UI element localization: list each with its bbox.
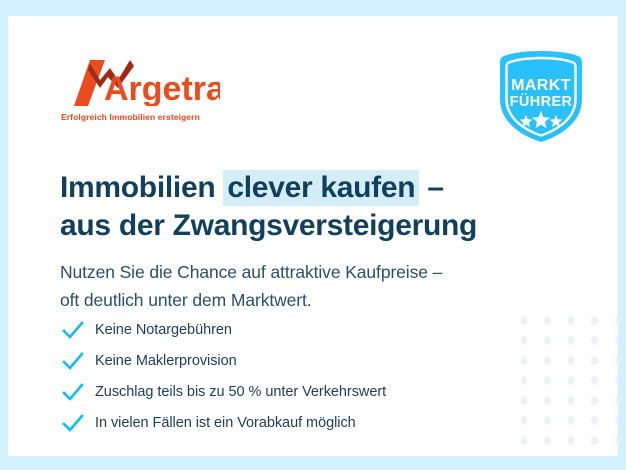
headline-prefix: Immobilien <box>60 171 223 204</box>
dot <box>568 336 574 345</box>
list-item: Keine Maklerprovision <box>62 345 522 376</box>
dot <box>544 316 550 325</box>
dot <box>544 416 550 425</box>
list-item: In vielen Fällen ist ein Vorabkauf mögli… <box>62 407 522 438</box>
check-icon <box>62 413 84 433</box>
check-icon <box>62 351 84 371</box>
badge-line-2: FÜHRER <box>510 93 573 110</box>
check-icon <box>62 320 84 340</box>
subheadline-line-2: oft deutlich unter dem Marktwert. <box>60 286 560 314</box>
check-label: Keine Maklerprovision <box>95 353 237 369</box>
dot <box>591 396 597 405</box>
dot <box>544 436 550 445</box>
check-icon <box>62 382 84 402</box>
dot-row <box>521 336 618 345</box>
headline: Immobilien clever kaufen – aus der Zwang… <box>60 169 560 246</box>
list-item: Zuschlag teils bis zu 50 % unter Verkehr… <box>62 376 522 407</box>
dot <box>568 436 574 445</box>
dot <box>591 436 597 445</box>
subheadline: Nutzen Sie die Chance auf attraktive Kau… <box>60 258 560 315</box>
dot <box>568 316 574 325</box>
dot <box>615 416 618 425</box>
dot <box>568 416 574 425</box>
dot-row <box>521 356 618 365</box>
headline-line-1: Immobilien clever kaufen – <box>60 169 560 207</box>
dot-row <box>521 416 618 425</box>
dot <box>591 416 597 425</box>
dot-pattern-decoration <box>521 316 618 456</box>
check-label: Zuschlag teils bis zu 50 % unter Verkehr… <box>95 384 386 400</box>
shield-badge-icon: MARKT FÜHRER <box>495 49 587 144</box>
dot <box>615 396 618 405</box>
dot <box>615 356 618 365</box>
dot <box>591 316 597 325</box>
logo-wordmark: Argetra <box>104 70 220 106</box>
argetra-logo-icon: Argetra <box>60 60 220 106</box>
dot <box>544 396 550 405</box>
list-item: Keine Notargebühren <box>62 314 522 345</box>
dot <box>544 336 550 345</box>
dot-row <box>521 376 618 385</box>
dot-row <box>521 316 618 325</box>
dot <box>544 376 550 385</box>
dot <box>568 356 574 365</box>
dot <box>615 376 618 385</box>
banner-frame: Argetra Erfolgreich Immobilien ersteiger… <box>0 0 626 470</box>
banner-card: Argetra Erfolgreich Immobilien ersteiger… <box>8 16 618 456</box>
dot <box>615 336 618 345</box>
argetra-logo[interactable]: Argetra Erfolgreich Immobilien ersteiger… <box>60 60 220 124</box>
benefits-checklist: Keine Notargebühren Keine Maklerprovisio… <box>62 314 522 438</box>
dot <box>544 356 550 365</box>
dot <box>615 316 618 325</box>
check-label: Keine Notargebühren <box>95 322 232 338</box>
dot-row <box>521 396 618 405</box>
dot <box>591 356 597 365</box>
dot <box>615 436 618 445</box>
headline-highlight: clever kaufen <box>223 170 419 206</box>
headline-line-2: aus der Zwangsversteigerung <box>60 207 560 245</box>
subheadline-line-1: Nutzen Sie die Chance auf attraktive Kau… <box>60 258 560 286</box>
dot <box>591 376 597 385</box>
check-label: In vielen Fällen ist ein Vorabkauf mögli… <box>95 415 356 431</box>
dot-row <box>521 436 618 445</box>
logo-tagline: Erfolgreich Immobilien ersteigern <box>61 112 200 122</box>
headline-suffix: – <box>419 171 443 204</box>
dot <box>568 376 574 385</box>
badge-line-1: MARKT <box>511 77 571 94</box>
markt-fuehrer-badge: MARKT FÜHRER <box>495 49 587 144</box>
dot <box>568 396 574 405</box>
dot <box>591 336 597 345</box>
